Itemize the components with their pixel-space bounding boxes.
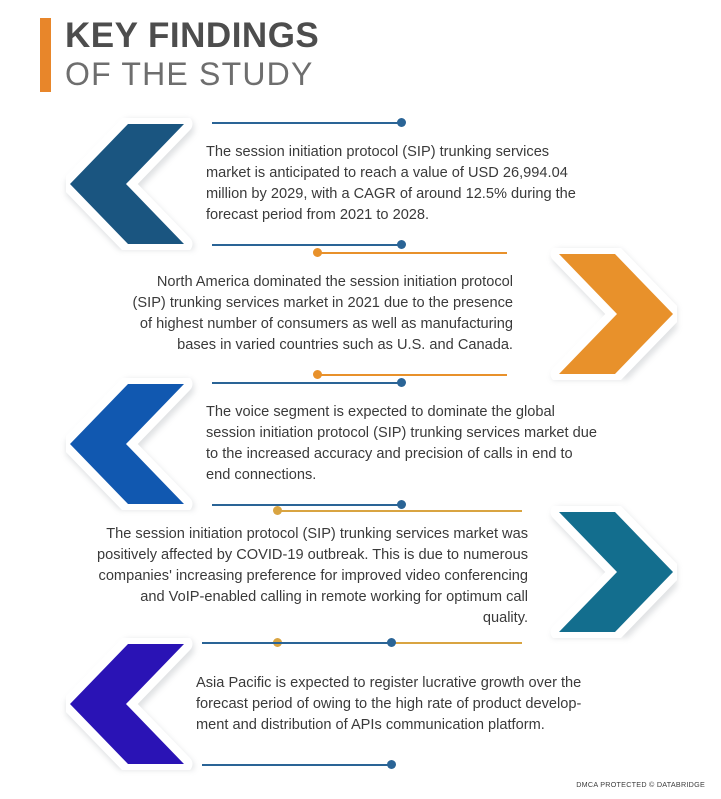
finding-content: Asia Pacific is expected to register luc…: [190, 638, 635, 770]
chevron-arrow-icon: [549, 248, 677, 380]
footer-credit: DMCA PROTECTED © DATABRIDGE: [576, 780, 705, 789]
infographic-page: KEY FINDINGS OF THE STUDY The session in…: [0, 0, 721, 799]
finding-row: The session initiation protocol (SIP) tr…: [0, 118, 721, 250]
finding-chevron: [66, 378, 194, 510]
connector-dot: [397, 118, 406, 127]
connector-rule: [317, 252, 507, 254]
connector-rule: [212, 244, 402, 246]
connector-dot: [313, 248, 322, 257]
connector-rule: [317, 374, 507, 376]
connector-dot: [387, 638, 396, 647]
connector-line-bottom: [196, 760, 629, 770]
finding-row: The session initiation protocol (SIP) tr…: [0, 506, 721, 646]
page-header: KEY FINDINGS OF THE STUDY: [40, 18, 319, 92]
finding-text: The session initiation protocol (SIP) tr…: [206, 133, 614, 235]
connector-line-top: [196, 638, 629, 648]
finding-text: The voice segment is expected to dominat…: [206, 393, 624, 495]
chevron-arrow-icon: [66, 638, 194, 770]
finding-chevron: [549, 506, 677, 638]
finding-content: North America dominated the session init…: [64, 248, 519, 380]
header-accent-bar: [40, 18, 51, 92]
finding-chevron: [549, 248, 677, 380]
page-title: KEY FINDINGS: [65, 18, 319, 55]
connector-rule: [202, 764, 392, 766]
connector-rule: [202, 642, 392, 644]
finding-content: The session initiation protocol (SIP) tr…: [200, 118, 620, 250]
connector-rule: [277, 510, 522, 512]
finding-row: The voice segment is expected to dominat…: [0, 378, 721, 510]
header-text-group: KEY FINDINGS OF THE STUDY: [65, 18, 319, 92]
finding-text: North America dominated the session init…: [70, 263, 513, 365]
connector-rule: [212, 382, 402, 384]
page-subtitle: OF THE STUDY: [65, 57, 319, 92]
connector-dot: [397, 378, 406, 387]
finding-chevron: [66, 638, 194, 770]
finding-chevron: [66, 118, 194, 250]
chevron-arrow-icon: [66, 378, 194, 510]
connector-dot: [273, 506, 282, 515]
finding-row: Asia Pacific is expected to register luc…: [0, 638, 721, 770]
finding-text: The session initiation protocol (SIP) tr…: [40, 515, 528, 638]
connector-line-top: [206, 378, 624, 388]
chevron-arrow-icon: [549, 506, 677, 638]
connector-line-top: [70, 248, 513, 258]
finding-content: The voice segment is expected to dominat…: [200, 378, 630, 510]
connector-line-top: [40, 506, 528, 515]
finding-text: Asia Pacific is expected to register luc…: [196, 664, 629, 745]
chevron-arrow-icon: [66, 118, 194, 250]
connector-dot: [387, 760, 396, 769]
connector-line-top: [206, 118, 614, 128]
finding-content: The session initiation protocol (SIP) tr…: [34, 506, 534, 646]
connector-rule: [212, 122, 402, 124]
finding-row: North America dominated the session init…: [0, 248, 721, 380]
